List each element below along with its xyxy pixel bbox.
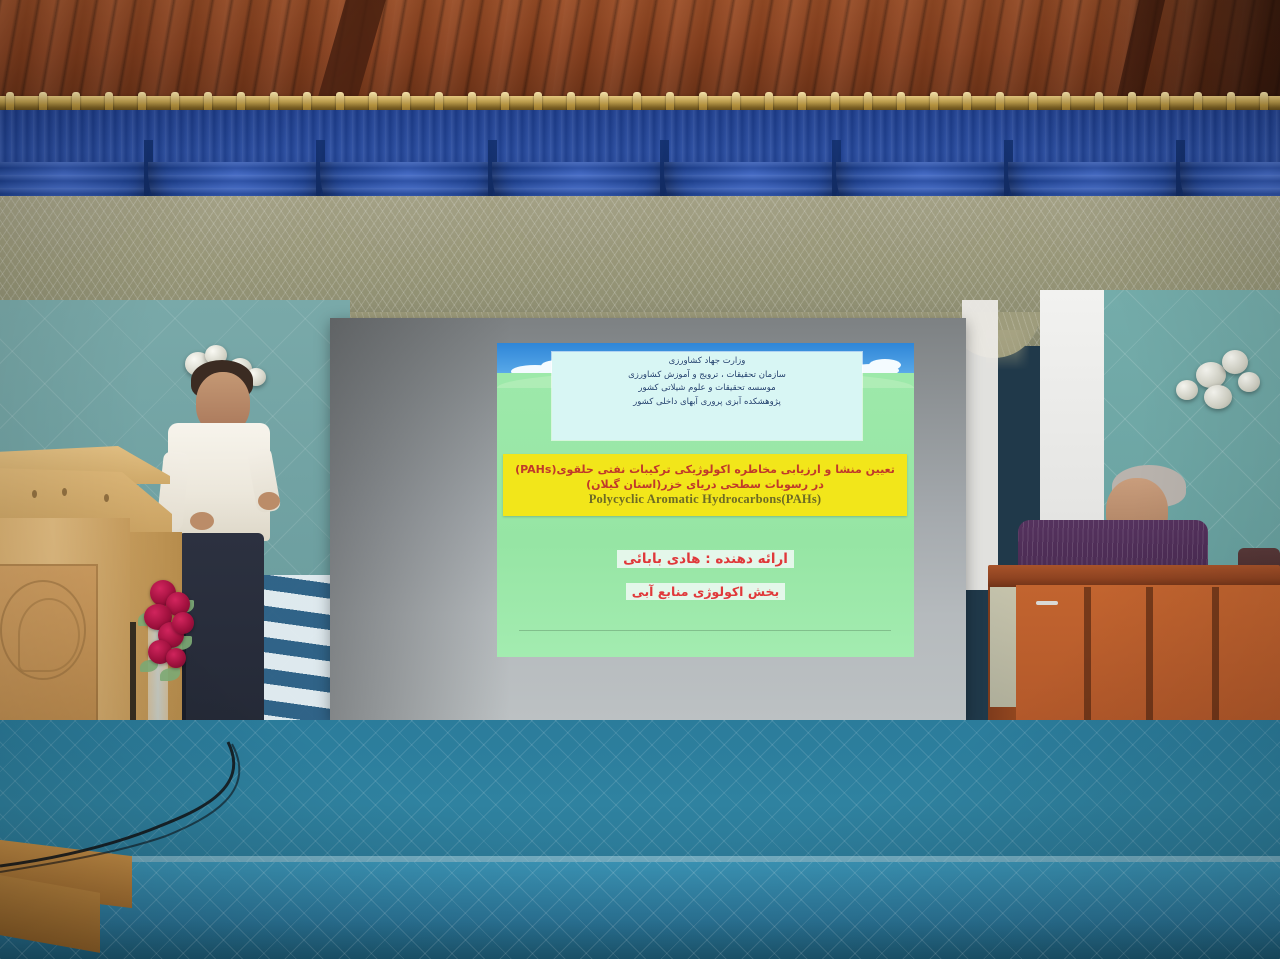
buoy-float-icon bbox=[1204, 385, 1232, 409]
conference-hall-photo: وزارت جهاد کشاورزی سازمان تحقیقات ، تروی… bbox=[0, 0, 1280, 959]
rose-icon bbox=[172, 612, 194, 634]
slide-title-band: تعیین منشا و ارزیابی مخاطره اکولوژیکی تر… bbox=[503, 454, 907, 516]
slide-title-fa-line1: تعیین منشا و ارزیابی مخاطره اکولوژیکی تر… bbox=[515, 463, 895, 477]
wood-knot bbox=[62, 488, 67, 496]
buoy-float-icon bbox=[1176, 380, 1198, 400]
org-line: وزارت جهاد کشاورزی bbox=[552, 357, 862, 366]
slide-title-en: Polycyclic Aromatic Hydrocarbons(PAHs) bbox=[589, 492, 822, 507]
wood-knot bbox=[104, 494, 109, 502]
presenter-label: ارائه دهنده : هادی بابائی bbox=[617, 550, 794, 568]
projected-slide: وزارت جهاد کشاورزی سازمان تحقیقات ، تروی… bbox=[497, 343, 914, 657]
organization-box: وزارت جهاد کشاورزی سازمان تحقیقات ، تروی… bbox=[552, 352, 862, 440]
slide-title-fa-line2: در رسوبات سطحی دریای خزر(استان گیلان) bbox=[586, 478, 824, 492]
buoy-float-icon bbox=[1222, 350, 1248, 374]
wood-knot bbox=[32, 490, 37, 498]
presenter-line: ارائه دهنده : هادی بابائی bbox=[497, 550, 914, 568]
buoy-float-icon bbox=[1238, 372, 1260, 392]
podium-emblem-inner-icon bbox=[18, 598, 80, 672]
rose-icon bbox=[166, 648, 186, 668]
presenter-right-hand bbox=[258, 492, 280, 510]
org-line: سازمان تحقیقات ، ترویج و آموزش کشاورزی bbox=[552, 371, 862, 380]
white-wall-panel bbox=[962, 300, 998, 590]
desk-glass-panel bbox=[990, 587, 1016, 707]
presenter-trousers bbox=[178, 533, 264, 737]
org-line: پژوهشکده آبزی پروری آبهای داخلی کشور bbox=[552, 398, 862, 407]
slide-divider bbox=[519, 630, 891, 631]
projection-screen-shadow bbox=[330, 318, 510, 720]
desk-handle bbox=[1036, 601, 1058, 605]
stage-front-face bbox=[0, 862, 1280, 959]
presenter-left-hand bbox=[190, 512, 214, 530]
department-line: بخش اکولوژی منابع آبی bbox=[497, 583, 914, 601]
buoy-float-icon bbox=[1196, 362, 1226, 388]
desk-top bbox=[988, 565, 1280, 587]
org-line: موسسه تحقیقات و علوم شیلاتی کشور bbox=[552, 384, 862, 393]
cloud-icon bbox=[869, 359, 901, 371]
department-label: بخش اکولوژی منابع آبی bbox=[626, 583, 785, 600]
